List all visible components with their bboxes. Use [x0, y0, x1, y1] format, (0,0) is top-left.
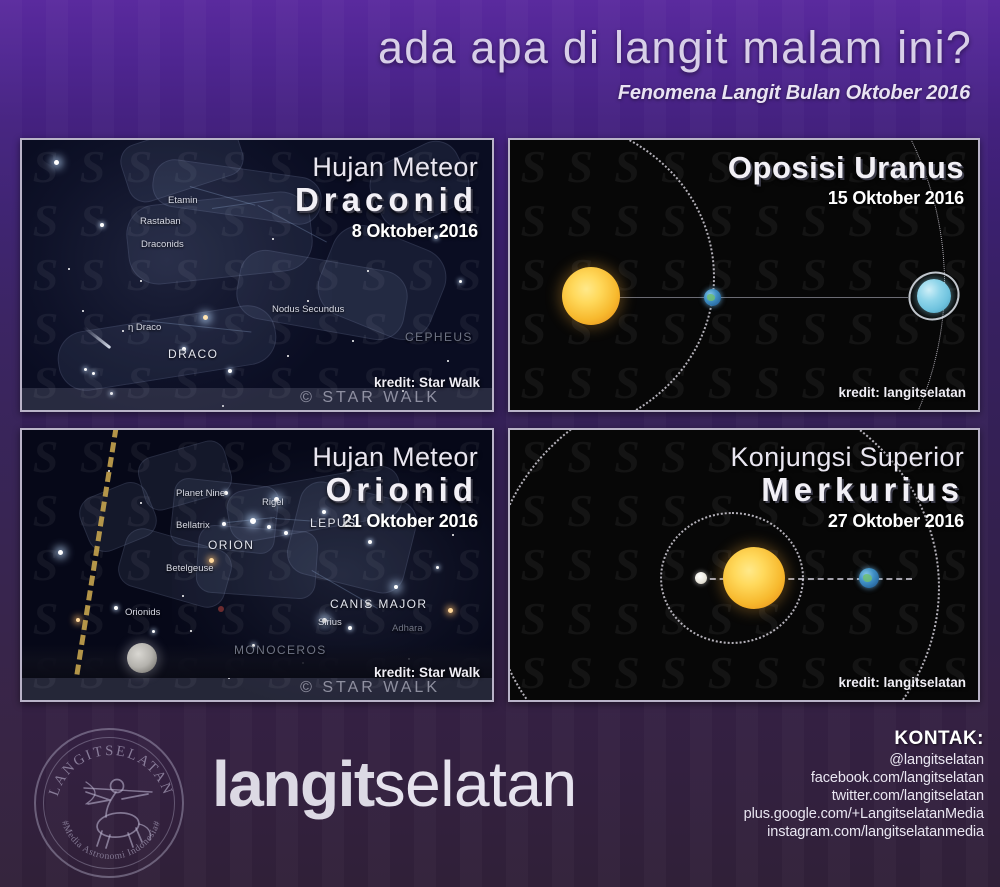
orion-nebula: [218, 606, 224, 612]
brand-wordmark: langitselatan: [212, 752, 577, 816]
watermark-glyph: S: [838, 410, 885, 412]
sun-body: [723, 547, 785, 609]
watermark-glyph: S: [884, 700, 931, 702]
panel-kicker: Hujan Meteor: [295, 152, 478, 183]
watermark-glyph: S: [163, 410, 210, 412]
langitselatan-logo[interactable]: LANGITSELATAN #Media Astronomi Indonesia…: [34, 728, 184, 878]
watermark-glyph: S: [445, 700, 492, 702]
ecliptic-line: [74, 428, 118, 675]
watermark-glyph: S: [257, 410, 304, 412]
starwalk-watermark-text: © STAR WALK: [300, 679, 440, 697]
panel-title: Merkurius: [730, 471, 964, 509]
watermark-glyph: S: [791, 700, 838, 702]
svg-text:#Media Astronomi Indonesia#: #Media Astronomi Indonesia#: [59, 820, 163, 862]
watermark-glyph: S: [22, 410, 69, 412]
starwalk-watermark-text: © STAR WALK: [300, 389, 440, 407]
star: [82, 310, 84, 312]
watermark-glyph: S: [557, 410, 604, 412]
star: [140, 280, 142, 282]
watermark-glyph: S: [116, 592, 163, 646]
star: [84, 368, 87, 371]
star: [348, 626, 352, 630]
star: [394, 585, 398, 589]
panel-title: Oposisi Uranus: [728, 150, 964, 186]
watermark-glyph: S: [210, 700, 257, 702]
poster-header: ada apa di langit malam ini? Fenomena La…: [0, 0, 1000, 122]
watermark-glyph: S: [838, 700, 885, 702]
star: [100, 223, 104, 227]
watermark-glyph: S: [304, 410, 351, 412]
panel-credit: kredit: langitselatan: [838, 675, 966, 690]
watermark-glyph: S: [697, 700, 744, 702]
star: [352, 340, 354, 342]
star-label: Betelgeuse: [166, 563, 214, 574]
kontak-googleplus[interactable]: plus.google.com/+LangitselatanMedia: [744, 806, 984, 822]
star-label: Orionids: [125, 607, 160, 618]
panel-date: 27 Oktober 2016: [730, 511, 964, 532]
star-label: Adhara: [392, 623, 423, 634]
star: [436, 566, 439, 569]
star: [190, 630, 192, 632]
star-label: η Draco: [128, 322, 161, 333]
uranus-ring-icon: [900, 263, 968, 330]
watermark-glyph: S: [744, 700, 791, 702]
page-subtitle: Fenomena Langit Bulan Oktober 2016: [618, 82, 970, 105]
panel-title: Orionid: [312, 471, 478, 509]
watermark-glyph: S: [931, 356, 978, 410]
watermark-glyph: S: [604, 410, 651, 412]
panel-credit: kredit: Star Walk: [374, 375, 480, 390]
star-draconids-radiant: [228, 369, 232, 373]
star: [447, 360, 449, 362]
panel-credit: kredit: langitselatan: [838, 385, 966, 400]
star: [152, 630, 155, 633]
watermark-glyph: S: [650, 700, 697, 702]
kontak-title: KONTAK:: [744, 728, 984, 750]
panel-kicker: Konjungsi Superior: [730, 442, 964, 473]
uranus-body-group: [908, 272, 960, 320]
earth-body: [704, 289, 721, 306]
star-label: Sirius: [318, 617, 342, 628]
watermark-glyph: S: [398, 700, 445, 702]
watermark-glyph: S: [604, 700, 651, 702]
star: [182, 595, 184, 597]
star-orion-belt: [250, 518, 256, 524]
watermark-glyph: S: [210, 410, 257, 412]
panel-title-block-merkurius: Konjungsi Superior Merkurius 27 Oktober …: [730, 442, 964, 532]
watermark-glyph: S: [163, 700, 210, 702]
watermark-glyph: S: [697, 410, 744, 412]
panel-kicker: Hujan Meteor: [312, 442, 478, 473]
starwalk-watermark-bar: © STAR WALK: [22, 388, 492, 410]
panel-title-block-draconid: Hujan Meteor Draconid 8 Oktober 2016: [295, 152, 478, 242]
watermark-glyph: S: [22, 592, 69, 646]
star-bellatrix: [222, 522, 226, 526]
moon-body: [127, 643, 157, 673]
watermark-glyph: S: [931, 410, 978, 412]
star: [76, 618, 80, 622]
watermark-glyph: S: [744, 410, 791, 412]
logo-artwork: LANGITSELATAN #Media Astronomi Indonesia…: [36, 730, 186, 880]
watermark-glyph: S: [931, 700, 978, 702]
star-orion-belt: [284, 531, 288, 535]
watermark-glyph: S: [445, 410, 492, 412]
starwalk-watermark-bar: © STAR WALK: [22, 678, 492, 700]
poster-root: ada apa di langit malam ini? Fenomena La…: [0, 0, 1000, 887]
star: [54, 160, 59, 165]
star: [459, 280, 462, 283]
panel-date: 15 Oktober 2016: [728, 188, 964, 209]
panel-draconid[interactable]: SSSSSSSSSSSSSSSSSSSSSSSSSSSSSSSSSSSSSSSS…: [20, 138, 494, 412]
star: [307, 300, 309, 302]
panel-orionid[interactable]: SSSSSSSSSSSSSSSSSSSSSSSSSSSSSSSSSSSSSSSS…: [20, 428, 494, 702]
sagittarius-archer-icon: [84, 780, 152, 849]
star: [287, 355, 289, 357]
kontak-twitter[interactable]: twitter.com/langitselatan: [744, 788, 984, 804]
star-label: Planet Nine: [176, 488, 225, 499]
panel-title-block-uranus: Oposisi Uranus 15 Oktober 2016: [728, 152, 964, 209]
panel-date: 8 Oktober 2016: [295, 221, 478, 242]
watermark-glyph: S: [931, 646, 978, 700]
watermark-glyph: S: [351, 410, 398, 412]
star-label: DRACO: [168, 347, 218, 361]
star: [122, 330, 124, 332]
watermark-glyph: S: [884, 410, 931, 412]
panel-credit: kredit: Star Walk: [374, 665, 480, 680]
panel-uranus[interactable]: SSSSSSSSSSSSSSSSSSSSSSSSSSSSSSSSSSSSSSSS…: [508, 138, 980, 412]
kontak-block: KONTAK: @langitselatan facebook.com/lang…: [744, 728, 984, 840]
star: [368, 540, 372, 544]
watermark-glyph: S: [304, 700, 351, 702]
star-etamin: [203, 315, 208, 320]
kontak-instagram[interactable]: instagram.com/langitselatanmedia: [744, 824, 984, 840]
watermark-glyph: S: [557, 700, 604, 702]
star-label: MONOCEROS: [234, 643, 327, 657]
star-label: Nodus Secundus: [272, 304, 344, 315]
star-label: LEPUS: [310, 516, 356, 530]
star-label: ORION: [208, 538, 254, 552]
watermark-glyph: S: [445, 248, 492, 302]
watermark-glyph: S: [510, 410, 557, 412]
star-label: Etamin: [168, 195, 198, 206]
watermark-glyph: S: [22, 700, 69, 702]
star: [367, 270, 369, 272]
star: [92, 372, 95, 375]
watermark-glyph: S: [791, 410, 838, 412]
star-orion-belt: [267, 525, 271, 529]
kontak-handle[interactable]: @langitselatan: [744, 752, 984, 768]
panel-title: Draconid: [295, 181, 478, 219]
star: [272, 238, 274, 240]
watermark-glyph: S: [22, 484, 69, 538]
star-label: Draconids: [141, 239, 184, 250]
wordmark-light: selatan: [374, 748, 577, 820]
watermark-glyph: S: [22, 430, 69, 484]
watermark-glyph: S: [69, 410, 116, 412]
panel-merkurius[interactable]: SSSSSSSSSSSSSSSSSSSSSSSSSSSSSSSSSSSSSSSS…: [508, 428, 980, 702]
star: [114, 606, 118, 610]
watermark-glyph: S: [650, 410, 697, 412]
star-label: Rigel: [262, 497, 284, 508]
star-label: Rastaban: [140, 216, 181, 227]
watermark-glyph: S: [22, 538, 69, 592]
sun-body: [562, 267, 620, 325]
star-label: CANIS MAJOR: [330, 597, 427, 611]
kontak-facebook[interactable]: facebook.com/langitselatan: [744, 770, 984, 786]
watermark-glyph: S: [510, 700, 557, 702]
watermark-glyph: S: [69, 700, 116, 702]
watermark-glyph: S: [116, 410, 163, 412]
watermark-glyph: S: [398, 410, 445, 412]
watermark-glyph: S: [257, 700, 304, 702]
wordmark-bold: langit: [212, 748, 374, 820]
star-label: CEPHEUS: [405, 330, 473, 344]
earth-body: [859, 568, 879, 588]
star: [68, 268, 70, 270]
page-title: ada apa di langit malam ini?: [378, 22, 972, 74]
star: [58, 550, 63, 555]
watermark-glyph: S: [445, 302, 492, 356]
mercury-body: [695, 572, 707, 584]
watermark-glyph: S: [116, 700, 163, 702]
star: [140, 502, 142, 504]
watermark-glyph: S: [351, 700, 398, 702]
star-label: Bellatrix: [176, 520, 210, 531]
star: [448, 608, 453, 613]
star: [452, 534, 454, 536]
